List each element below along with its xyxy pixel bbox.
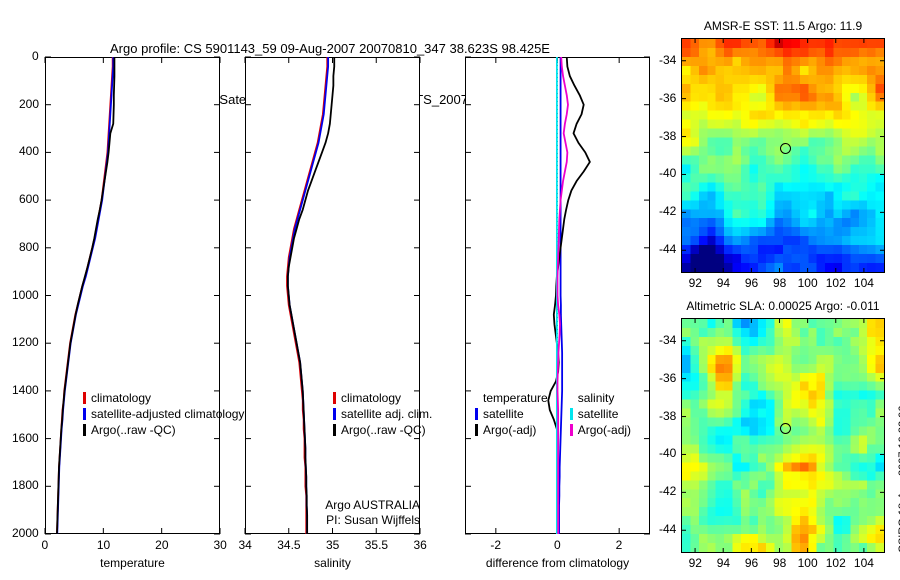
legend-label: satellite	[483, 406, 524, 422]
series-argo-raw-qc-	[57, 57, 114, 534]
profile-location-marker	[780, 143, 791, 154]
x-tick-label: 36	[414, 538, 427, 552]
x-tick-label: 34.5	[277, 538, 300, 552]
difference-from-climatology-xlabel: difference from climatology	[465, 556, 650, 570]
legend-color-swatch	[83, 392, 86, 404]
legend-entry: climatology	[333, 390, 432, 406]
map-longitude-tick: 92	[689, 276, 702, 290]
map-longitude-tick: 102	[826, 556, 846, 570]
legend-label: climatology	[91, 390, 151, 406]
legend-entry: satellite adj. clim.	[333, 406, 432, 422]
x-tick-label: 2	[616, 538, 623, 552]
legend-entry: Argo(..raw -QC)	[333, 422, 432, 438]
depth-tick-label: 1800	[12, 478, 39, 492]
series-temperature-satellite	[559, 57, 562, 534]
attribution: Argo AUSTRALIA PI: Susan Wijffels	[250, 498, 420, 528]
legend-label: Argo(-adj)	[578, 422, 631, 438]
legend-label: satellite	[578, 406, 619, 422]
x-tick-label: 0	[554, 538, 561, 552]
difference-legend: temperaturesatelliteArgo(-adj)salinitysa…	[475, 390, 631, 438]
temperature-profile-legend: climatologysatellite-adjusted climatolog…	[83, 390, 244, 438]
panel-amsre-sst: AMSR-E SST: 11.5 Argo: 11.99294969810010…	[681, 38, 885, 273]
legend-label: Argo(..raw -QC)	[341, 422, 426, 438]
map-longitude-tick: 100	[798, 556, 818, 570]
legend-color-swatch	[333, 392, 336, 404]
map-latitude-tick: -44	[659, 242, 676, 256]
title-line-1: Argo profile: CS 5901143_59 09-Aug-2007 …	[0, 40, 660, 57]
legend-color-swatch	[570, 424, 573, 436]
legend-entry: Argo(-adj)	[475, 422, 548, 438]
altimetric-sla-map-title: Altimetric SLA: 0.00025 Argo: -0.011	[681, 299, 885, 313]
salinity-profile-legend: climatologysatellite adj. clim.Argo(..ra…	[333, 390, 432, 438]
depth-tick-label: 1200	[12, 335, 39, 349]
legend-entry: satellite	[475, 406, 548, 422]
legend-entry: climatology	[83, 390, 244, 406]
map-latitude-tick: -38	[659, 129, 676, 143]
depth-tick-label: 600	[19, 192, 39, 206]
map-longitude-tick: 94	[717, 556, 730, 570]
depth-tick-label: 1000	[12, 288, 39, 302]
map-latitude-tick: -42	[659, 484, 676, 498]
map-longitude-tick: 96	[745, 276, 758, 290]
legend-entry: Argo(..raw -QC)	[83, 422, 244, 438]
map-latitude-tick: -36	[659, 371, 676, 385]
map-latitude-tick: -34	[659, 333, 676, 347]
legend-entry: Argo(-adj)	[570, 422, 631, 438]
x-tick-label: 20	[155, 538, 168, 552]
map-longitude-tick: 98	[773, 276, 786, 290]
map-longitude-tick: 92	[689, 556, 702, 570]
legend-color-swatch	[333, 424, 336, 436]
legend-label: satellite adj. clim.	[341, 406, 432, 422]
temperature-profile-xlabel: temperature	[45, 556, 220, 570]
salinity-profile-plot-area	[245, 57, 420, 534]
map-longitude-tick: 104	[854, 276, 874, 290]
series-temperature-argo-adj-	[548, 57, 590, 534]
depth-tick-label: 800	[19, 240, 39, 254]
panel-salinity: 3434.53535.536salinityclimatologysatelli…	[245, 57, 420, 534]
depth-tick-label: 1400	[12, 383, 39, 397]
x-tick-label: 35	[326, 538, 339, 552]
legend-entry: satellite	[570, 406, 631, 422]
legend-color-swatch	[83, 408, 86, 420]
map-latitude-tick: -40	[659, 446, 676, 460]
x-tick-label: -2	[490, 538, 501, 552]
salinity-profile-xlabel: salinity	[245, 556, 420, 570]
x-tick-label: 30	[214, 538, 227, 552]
depth-tick-label: 400	[19, 144, 39, 158]
map-longitude-tick: 104	[854, 556, 874, 570]
x-tick-label: 35.5	[365, 538, 388, 552]
map-longitude-tick: 98	[773, 556, 786, 570]
altimetric-sla-map-overlay	[681, 318, 885, 553]
legend-label: Argo(..raw -QC)	[91, 422, 176, 438]
panel-altimetric-sla: Altimetric SLA: 0.00025 Argo: -0.0119294…	[681, 318, 885, 553]
legend-column-header: temperature	[475, 390, 548, 406]
series-climatology	[57, 57, 113, 534]
legend-color-swatch	[475, 424, 478, 436]
legend-color-swatch	[83, 424, 86, 436]
panel-difference: -202difference from climatologytemperatu…	[465, 57, 650, 534]
legend-entry: satellite-adjusted climatology	[83, 406, 244, 422]
legend-label: satellite-adjusted climatology	[91, 406, 244, 422]
depth-tick-label: 200	[19, 97, 39, 111]
map-latitude-tick: -44	[659, 522, 676, 536]
x-tick-label: 34	[239, 538, 252, 552]
legend-label: Argo(-adj)	[483, 422, 536, 438]
series-argo-raw-qc-	[288, 57, 334, 534]
series-satellite-adj-clim-	[288, 57, 328, 534]
map-latitude-tick: -36	[659, 91, 676, 105]
map-longitude-tick: 100	[798, 276, 818, 290]
temperature-profile-plot-area	[45, 57, 220, 534]
map-latitude-tick: -42	[659, 204, 676, 218]
series-satellite-adjusted-climatology	[57, 57, 113, 534]
amsre-sst-map-title: AMSR-E SST: 11.5 Argo: 11.9	[681, 19, 885, 33]
map-latitude-tick: -34	[659, 53, 676, 67]
legend-color-swatch	[475, 408, 478, 420]
legend-color-swatch	[333, 408, 336, 420]
amsre-sst-map-overlay	[681, 38, 885, 273]
panel-temperature: 0102030temperature0200400600800100012001…	[45, 57, 220, 534]
legend-column: temperaturesatelliteArgo(-adj)	[475, 390, 548, 438]
map-latitude-tick: -40	[659, 166, 676, 180]
profile-location-marker	[780, 423, 791, 434]
difference-from-climatology-plot-area	[465, 57, 650, 534]
depth-tick-label: 1600	[12, 431, 39, 445]
legend-color-swatch	[570, 408, 573, 420]
x-tick-label: 0	[42, 538, 49, 552]
map-longitude-tick: 94	[717, 276, 730, 290]
map-longitude-tick: 102	[826, 276, 846, 290]
x-tick-label: 10	[97, 538, 110, 552]
map-latitude-tick: -38	[659, 409, 676, 423]
depth-tick-label: 0	[32, 49, 39, 63]
map-longitude-tick: 96	[745, 556, 758, 570]
depth-tick-label: 2000	[12, 526, 39, 540]
legend-column: salinitysatelliteArgo(-adj)	[570, 390, 631, 438]
legend-label: climatology	[341, 390, 401, 406]
legend-column-header: salinity	[570, 390, 631, 406]
